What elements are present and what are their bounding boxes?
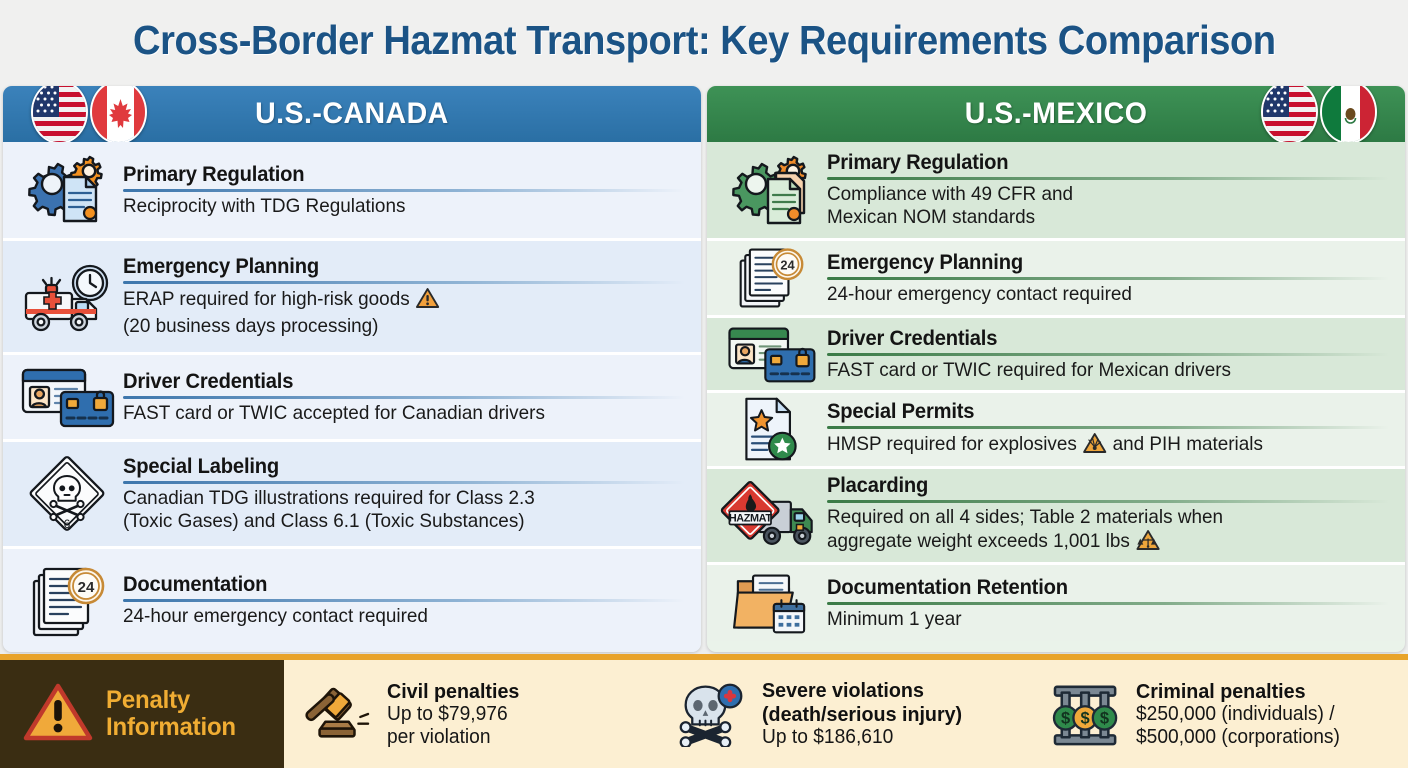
skull-crossbones-icon [673, 681, 753, 747]
row-heading: Emergency Planning [123, 255, 319, 279]
heading-rule [827, 602, 1389, 605]
heading-rule [123, 481, 685, 484]
row-body: Special Permits HMSP required for explos… [827, 400, 1395, 460]
panel-us-mexico: U.S.-MEXICO [707, 86, 1405, 652]
row-mexico-emergency-planning: 24 Emergency Planning 24-hour emergency … [707, 241, 1405, 315]
row-description: Required on all 4 sides; Table 2 materia… [827, 506, 1372, 556]
ambulance-clock-icon [11, 257, 123, 337]
row-description-post: (20 business days processing) [123, 315, 378, 337]
penalty-item-severe: Severe violations (death/serious injury)… [659, 660, 1034, 768]
row-description: ERAP required for high-risk goods (20 bu… [123, 287, 668, 337]
id-card-credential-icon [715, 321, 827, 387]
row-heading: Documentation [123, 573, 267, 597]
row-description: HMSP required for explosives and PIH mat… [827, 432, 1372, 460]
penalty-title: Criminal penalties [1136, 680, 1393, 703]
svg-text:HAZMAT: HAZMAT [729, 512, 773, 524]
row-heading: Documentation Retention [827, 576, 1068, 600]
row-mexico-placarding: HAZMAT Placarding Required on all 4 side… [707, 469, 1405, 562]
us-flag-icon [31, 86, 88, 144]
row-description-post: and PIH materials [1107, 433, 1263, 455]
documents-24hour-icon: 24 [11, 561, 123, 641]
penalty-amount: $250,000 (individuals) / $500,000 (corpo… [1136, 703, 1393, 749]
jail-money-icon: $$$ [1047, 681, 1127, 747]
row-mexico-primary-regulation: Primary Regulation Compliance with 49 CF… [707, 142, 1405, 238]
page-title: Cross-Border Hazmat Transport: Key Requi… [133, 17, 1276, 64]
row-body: Placarding Required on all 4 sides; Tabl… [827, 474, 1395, 556]
row-canada-documentation: 24 Documentation 24-hour emergency conta… [3, 549, 701, 652]
row-canada-emergency-planning: Emergency Planning ERAP required for hig… [3, 241, 701, 352]
row-description: 24-hour emergency contact required [123, 605, 668, 628]
svg-text:$: $ [1081, 710, 1090, 728]
row-description-pre: ERAP required for high-risk goods [123, 288, 415, 310]
row-body: Driver Credentials FAST card or TWIC req… [827, 327, 1395, 382]
permit-star-icon [715, 395, 827, 465]
page-title-bar: Cross-Border Hazmat Transport: Key Requi… [0, 0, 1408, 80]
row-body: Primary Regulation Reciprocity with TDG … [123, 163, 691, 218]
row-description-pre: Required on all 4 sides; Table 2 materia… [827, 506, 1223, 552]
penalty-title: Severe violations (death/serious injury) [762, 679, 1019, 725]
row-body: Documentation Retention Minimum 1 year [827, 576, 1395, 631]
penalty-amount: Up to $79,976 per violation [387, 703, 644, 749]
row-mexico-special-permits: Special Permits HMSP required for explos… [707, 393, 1405, 466]
svg-text:6: 6 [64, 517, 71, 531]
row-description: FAST card or TWIC required for Mexican d… [827, 359, 1372, 382]
canada-flag-icon [90, 86, 147, 144]
scales-triangle-icon [1136, 529, 1159, 557]
penalty-item-criminal: $$$ Criminal penalties $250,000 (individ… [1033, 660, 1408, 768]
mexico-flag-icon [1320, 86, 1377, 144]
svg-text:$: $ [1061, 710, 1070, 728]
warning-triangle-icon [416, 287, 439, 315]
row-canada-driver-credentials: Driver Credentials FAST card or TWIC acc… [3, 355, 701, 439]
header-title-us-mexico: U.S.-MEXICO [965, 97, 1148, 131]
gavel-icon [298, 682, 378, 746]
heading-rule [123, 599, 685, 602]
svg-text:$: $ [1100, 710, 1109, 728]
row-canada-primary-regulation: Primary Regulation Reciprocity with TDG … [3, 142, 701, 238]
row-heading: Emergency Planning [827, 251, 1023, 275]
penalty-text: Civil penalties Up to $79,976 per violat… [387, 680, 655, 749]
row-description: Minimum 1 year [827, 608, 1372, 631]
gear-document-icon [715, 151, 827, 229]
heading-rule [827, 177, 1389, 180]
heading-rule [123, 281, 685, 284]
flag-pair-us-mexico [1261, 86, 1377, 144]
row-body: Documentation 24-hour emergency contact … [123, 573, 691, 628]
row-heading: Placarding [827, 474, 928, 498]
heading-rule [123, 396, 685, 399]
row-body: Special Labeling Canadian TDG illustrati… [123, 455, 691, 532]
row-description: 24-hour emergency contact required [827, 283, 1372, 306]
flag-pair-us-canada [31, 86, 147, 144]
row-heading: Special Permits [827, 400, 974, 424]
explosive-triangle-icon [1083, 432, 1106, 460]
us-flag-icon [1261, 86, 1318, 144]
row-heading: Primary Regulation [827, 151, 1008, 175]
folder-calendar-icon [715, 568, 827, 638]
row-canada-special-labeling: 6 Special Labeling Canadian TDG illustra… [3, 442, 701, 546]
toxic-placard-icon: 6 [11, 450, 123, 538]
row-description-pre: HMSP required for explosives [827, 433, 1082, 455]
penalty-footer: Penalty Information [0, 654, 1408, 768]
header-title-us-canada: U.S.-CANADA [255, 97, 449, 131]
alert-triangle-icon [22, 680, 94, 749]
row-body: Emergency Planning 24-hour emergency con… [827, 251, 1395, 306]
header-us-canada: U.S.-CANADA [3, 86, 701, 142]
hazmat-truck-icon: HAZMAT [715, 475, 827, 557]
heading-rule [827, 277, 1389, 280]
penalty-item-civil: Civil penalties Up to $79,976 per violat… [284, 660, 659, 768]
id-card-credential-icon [11, 362, 123, 432]
heading-rule [827, 353, 1389, 356]
row-description: Reciprocity with TDG Regulations [123, 195, 668, 218]
row-description: Compliance with 49 CFR and Mexican NOM s… [827, 183, 1372, 228]
panel-us-canada: U.S.-CANADA [3, 86, 701, 652]
row-heading: Driver Credentials [827, 327, 997, 351]
row-mexico-driver-credentials: Driver Credentials FAST card or TWIC req… [707, 318, 1405, 390]
penalty-text: Severe violations (death/serious injury)… [762, 679, 1030, 748]
penalty-information-label: Penalty Information [106, 687, 277, 741]
row-body: Primary Regulation Compliance with 49 CF… [827, 151, 1395, 228]
row-description: Canadian TDG illustrations required for … [123, 487, 668, 532]
heading-rule [827, 500, 1389, 503]
svg-text:24: 24 [780, 258, 795, 273]
row-heading: Special Labeling [123, 455, 279, 479]
header-us-mexico: U.S.-MEXICO [707, 86, 1405, 142]
svg-text:24: 24 [78, 579, 95, 596]
heading-rule [123, 189, 685, 192]
row-heading: Driver Credentials [123, 370, 293, 394]
row-body: Driver Credentials FAST card or TWIC acc… [123, 370, 691, 425]
row-description: FAST card or TWIC accepted for Canadian … [123, 402, 668, 425]
row-mexico-documentation-retention: Documentation Retention Minimum 1 year [707, 565, 1405, 641]
infographic-page: Cross-Border Hazmat Transport: Key Requi… [0, 0, 1408, 768]
heading-rule [827, 426, 1389, 429]
documents-24hour-icon: 24 [715, 244, 827, 312]
gear-document-icon [11, 151, 123, 229]
penalty-title: Civil penalties [387, 680, 644, 703]
row-body: Emergency Planning ERAP required for hig… [123, 255, 691, 337]
penalty-information-block: Penalty Information [0, 660, 284, 768]
row-heading: Primary Regulation [123, 163, 304, 187]
penalty-amount: Up to $186,610 [762, 726, 1019, 749]
penalty-text: Criminal penalties $250,000 (individuals… [1136, 680, 1404, 749]
